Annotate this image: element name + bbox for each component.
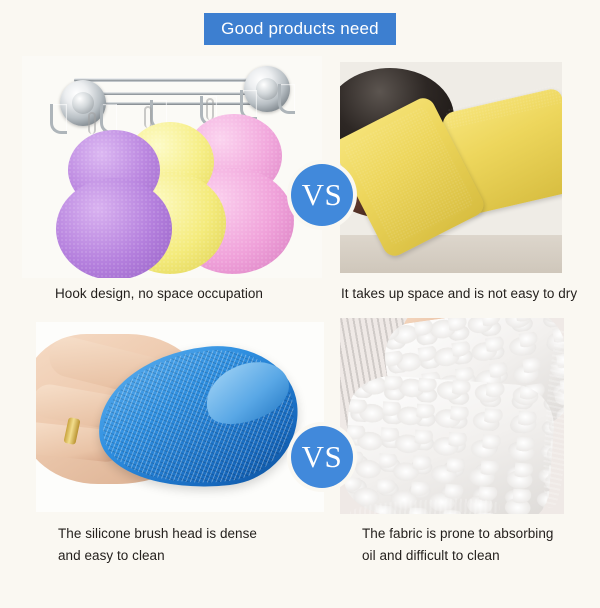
photo-sponges (340, 62, 562, 273)
vs-badge-bottom: VS (291, 426, 353, 488)
caption-fabric-line-2: oil and difficult to clean (362, 545, 592, 567)
header-bar: Good products need (0, 0, 600, 60)
caption-silicone-brush: The silicone brush head is dense and eas… (58, 523, 318, 567)
wall-hook-6 (278, 84, 295, 114)
caption-fabric-drawback: The fabric is prone to absorbing oil and… (362, 523, 592, 567)
photo-silicone-brush-hand (36, 322, 324, 512)
brush-hang-loop-pink (206, 98, 214, 120)
caption-hook-design: Hook design, no space occupation (55, 283, 263, 305)
photo-hook-design (22, 56, 322, 278)
cloth-lower (341, 373, 556, 514)
caption-silicone-line-2: and easy to clean (58, 545, 318, 567)
caption-silicone-line-1: The silicone brush head is dense (58, 523, 318, 545)
product-comparison-infographic: { "page": { "background_color": "#faf8f2… (0, 0, 600, 608)
brush-hang-loop-purple (88, 112, 96, 134)
scouring-pad-back (444, 83, 562, 129)
vs-badge-top: VS (291, 164, 353, 226)
page-title: Good products need (204, 13, 396, 45)
table-surface (340, 235, 562, 273)
silicone-brush-purple (56, 130, 172, 278)
photo-fabric-cloth (340, 318, 564, 514)
caption-fabric-line-1: The fabric is prone to absorbing (362, 523, 592, 545)
caption-sponge-drawback: It takes up space and is not easy to dry (341, 283, 577, 305)
